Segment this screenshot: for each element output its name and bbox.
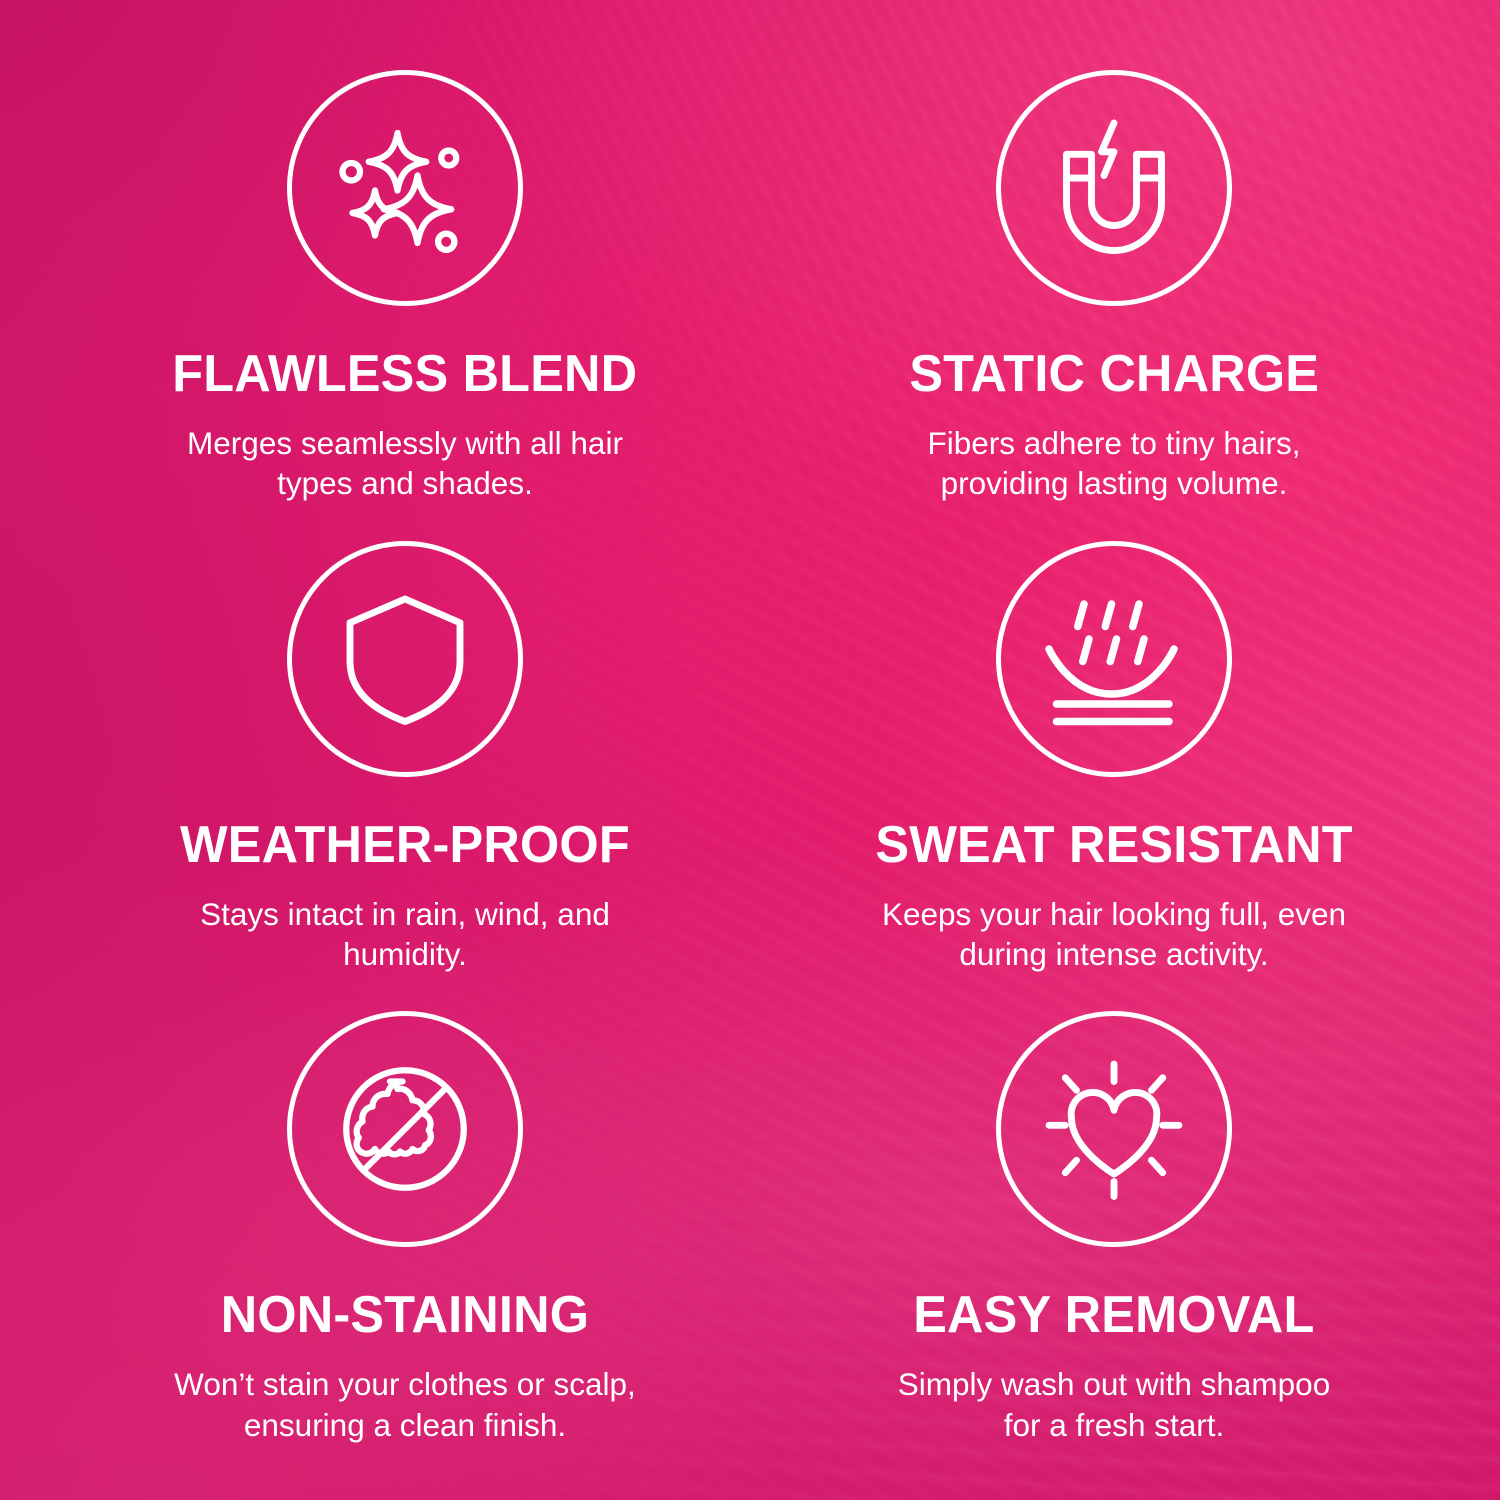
magnet-bolt-icon <box>1039 113 1189 263</box>
radiant-heart-icon <box>1039 1054 1189 1204</box>
feature-description: Keeps your hair looking full, even durin… <box>882 894 1346 975</box>
icon-circle-sweat-resistant <box>996 541 1232 777</box>
feature-title: STATIC CHARGE <box>909 348 1319 401</box>
feature-grid-infographic: FLAWLESS BLEND Merges seamlessly with al… <box>0 0 1500 1500</box>
feature-weather-proof: WEATHER-PROOF Stays intact in rain, wind… <box>40 519 750 990</box>
feature-description: Fibers adhere to tiny hairs, providing l… <box>928 423 1301 504</box>
icon-circle-flawless-blend <box>287 70 523 306</box>
feature-description: Merges seamlessly with all hair types an… <box>187 423 623 504</box>
feature-flawless-blend: FLAWLESS BLEND Merges seamlessly with al… <box>40 48 750 519</box>
feature-title: NON-STAINING <box>221 1289 589 1342</box>
shield-icon <box>330 584 480 734</box>
feature-title: FLAWLESS BLEND <box>172 348 637 401</box>
feature-description: Stays intact in rain, wind, and humidity… <box>200 894 610 975</box>
feature-description: Won’t stain your clothes or scalp, ensur… <box>174 1364 636 1445</box>
sparkles-icon <box>330 113 480 263</box>
icon-circle-static-charge <box>996 70 1232 306</box>
feature-non-staining: NON-STAINING Won’t stain your clothes or… <box>40 989 750 1460</box>
feature-title: WEATHER-PROOF <box>180 819 630 872</box>
feature-sweat-resistant: SWEAT RESISTANT Keeps your hair looking … <box>750 519 1460 990</box>
no-stain-icon <box>330 1054 480 1204</box>
feature-description: Simply wash out with shampoo for a fresh… <box>898 1364 1330 1445</box>
feature-title: EASY REMOVAL <box>913 1289 1314 1342</box>
features-grid: FLAWLESS BLEND Merges seamlessly with al… <box>0 0 1500 1500</box>
icon-circle-non-staining <box>287 1011 523 1247</box>
feature-title: SWEAT RESISTANT <box>875 819 1352 872</box>
feature-easy-removal: EASY REMOVAL Simply wash out with shampo… <box>750 989 1460 1460</box>
water-repellent-icon <box>1039 584 1189 734</box>
icon-circle-easy-removal <box>996 1011 1232 1247</box>
icon-circle-weather-proof <box>287 541 523 777</box>
feature-static-charge: STATIC CHARGE Fibers adhere to tiny hair… <box>750 48 1460 519</box>
